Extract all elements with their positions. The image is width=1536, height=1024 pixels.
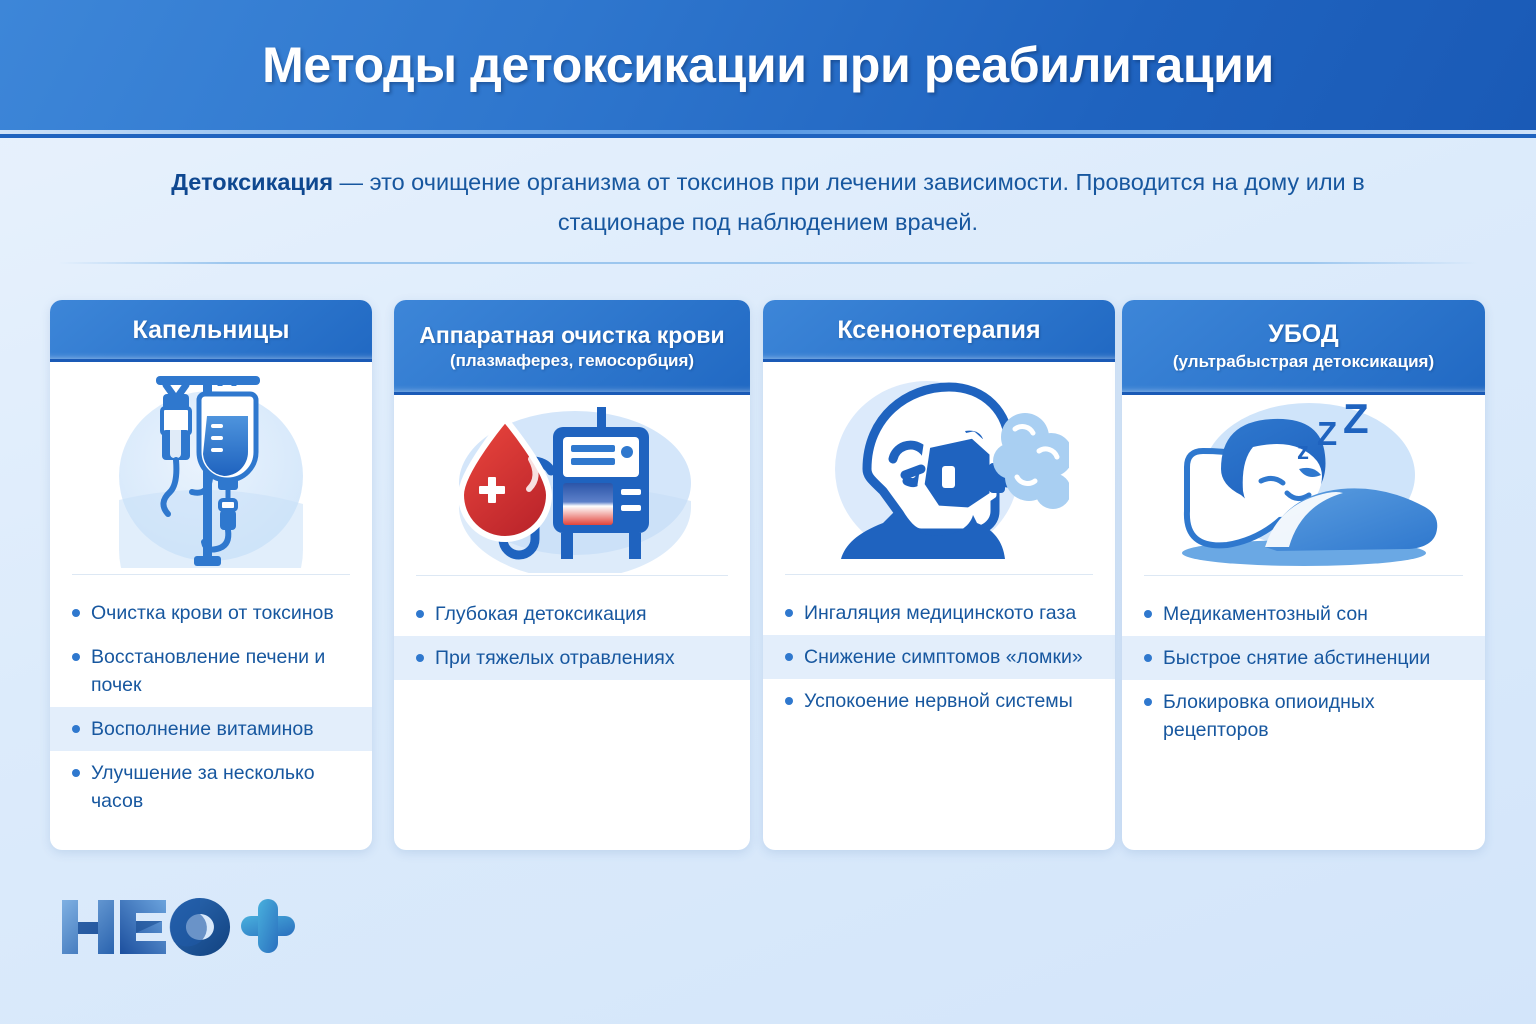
bullet-dot-icon bbox=[416, 654, 424, 662]
benefit-list: Глубокая детоксикация При тяжелых отравл… bbox=[394, 576, 750, 850]
card-title: УБОД bbox=[1268, 320, 1338, 349]
header-accent-line-secondary bbox=[0, 134, 1536, 138]
list-item[interactable]: Восполнение витаминов bbox=[50, 707, 372, 751]
list-item-label: Медикаментозный сон bbox=[1163, 600, 1469, 628]
intro-lead: Детоксикация bbox=[171, 169, 333, 195]
list-item[interactable]: Успокоение нервной системы bbox=[763, 679, 1115, 723]
method-card-ubod[interactable]: УБОД (ультрабыстрая детоксикация) bbox=[1122, 300, 1485, 850]
iv-drip-icon bbox=[50, 362, 372, 574]
card-subtitle: (плазмаферез, гемосорбция) bbox=[450, 351, 694, 371]
benefit-list: Ингаляция медицинското газа Снижение сим… bbox=[763, 575, 1115, 850]
bullet-dot-icon bbox=[1144, 654, 1152, 662]
svg-text:z: z bbox=[1297, 438, 1309, 465]
card-header: УБОД (ультрабыстрая детоксикация) bbox=[1122, 300, 1485, 395]
bullet-dot-icon bbox=[416, 610, 424, 618]
method-card-blood-purification[interactable]: Аппаратная очистка крови (плазмаферез, г… bbox=[394, 300, 750, 850]
benefit-list: Медикаментозный сон Быстрое снятие абсти… bbox=[1122, 576, 1485, 850]
bullet-dot-icon bbox=[785, 609, 793, 617]
list-item-label: Восполнение витаминов bbox=[91, 715, 356, 743]
page-title: Методы детоксикации при реабилитации bbox=[262, 36, 1274, 94]
list-item[interactable]: Снижение симптомов «ломки» bbox=[763, 635, 1115, 679]
bullet-dot-icon bbox=[785, 653, 793, 661]
list-item-label: Снижение симптомов «ломки» bbox=[804, 643, 1099, 671]
list-item-label: Восстановление печени и почек bbox=[91, 643, 356, 699]
list-item-label: Глубокая детоксикация bbox=[435, 600, 734, 628]
section-divider bbox=[58, 262, 1478, 264]
svg-text:Z: Z bbox=[1317, 415, 1337, 452]
intro-paragraph: Детоксикация — это очищение организма от… bbox=[160, 162, 1376, 242]
list-item-label: Быстрое снятие абстиненции bbox=[1163, 644, 1469, 672]
bullet-dot-icon bbox=[1144, 610, 1152, 618]
card-title: Капельницы bbox=[133, 316, 290, 345]
list-item[interactable]: Глубокая детоксикация bbox=[394, 592, 750, 636]
list-item[interactable]: Очистка крови от токсинов bbox=[50, 591, 372, 635]
card-title: Аппаратная очистка крови bbox=[419, 322, 724, 348]
list-item[interactable]: Быстрое снятие абстиненции bbox=[1122, 636, 1485, 680]
card-subtitle: (ультрабыстрая детоксикация) bbox=[1173, 352, 1434, 372]
neo-plus-logo-icon bbox=[58, 890, 298, 970]
header-banner: Методы детоксикации при реабилитации bbox=[0, 0, 1536, 130]
list-item-label: Улучшение за несколько часов bbox=[91, 759, 356, 815]
list-item[interactable]: Восстановление печени и почек bbox=[50, 635, 372, 707]
method-card-drip[interactable]: Капельницы bbox=[50, 300, 372, 850]
card-header: Аппаратная очистка крови (плазмаферез, г… bbox=[394, 300, 750, 395]
card-header: Ксенонотерапия bbox=[763, 300, 1115, 362]
method-cards: Капельницы bbox=[0, 300, 1536, 852]
list-item[interactable]: Медикаментозный сон bbox=[1122, 592, 1485, 636]
list-item[interactable]: Ингаляция медицинското газа bbox=[763, 591, 1115, 635]
bullet-dot-icon bbox=[72, 653, 80, 661]
benefit-list: Очистка крови от токсинов Восстановление… bbox=[50, 575, 372, 850]
list-item[interactable]: Блокировка опиоидных рецепторов bbox=[1122, 680, 1485, 752]
bullet-dot-icon bbox=[1144, 698, 1152, 706]
brand-logo[interactable] bbox=[58, 890, 298, 970]
bullet-dot-icon bbox=[72, 725, 80, 733]
svg-text:Z: Z bbox=[1343, 397, 1369, 442]
list-item-label: При тяжелых отравлениях bbox=[435, 644, 734, 672]
list-item-label: Успокоение нервной системы bbox=[804, 687, 1099, 715]
card-title: Ксенонотерапия bbox=[837, 316, 1040, 345]
list-item-label: Очистка крови от токсинов bbox=[91, 599, 356, 627]
list-item-label: Ингаляция медицинското газа bbox=[804, 599, 1099, 627]
list-item[interactable]: Улучшение за несколько часов bbox=[50, 751, 372, 823]
blood-purification-machine-icon bbox=[394, 395, 750, 575]
bullet-dot-icon bbox=[785, 697, 793, 705]
bullet-dot-icon bbox=[72, 769, 80, 777]
list-item[interactable]: При тяжелых отравлениях bbox=[394, 636, 750, 680]
sleeping-patient-icon: z Z Z bbox=[1122, 395, 1485, 575]
method-card-xenon-therapy[interactable]: Ксенонотерапия bbox=[763, 300, 1115, 850]
bullet-dot-icon bbox=[72, 609, 80, 617]
oxygen-mask-inhalation-icon bbox=[763, 362, 1115, 574]
list-item-label: Блокировка опиоидных рецепторов bbox=[1163, 688, 1469, 744]
card-header: Капельницы bbox=[50, 300, 372, 362]
intro-rest: — это очищение организма от токсинов при… bbox=[333, 169, 1365, 235]
